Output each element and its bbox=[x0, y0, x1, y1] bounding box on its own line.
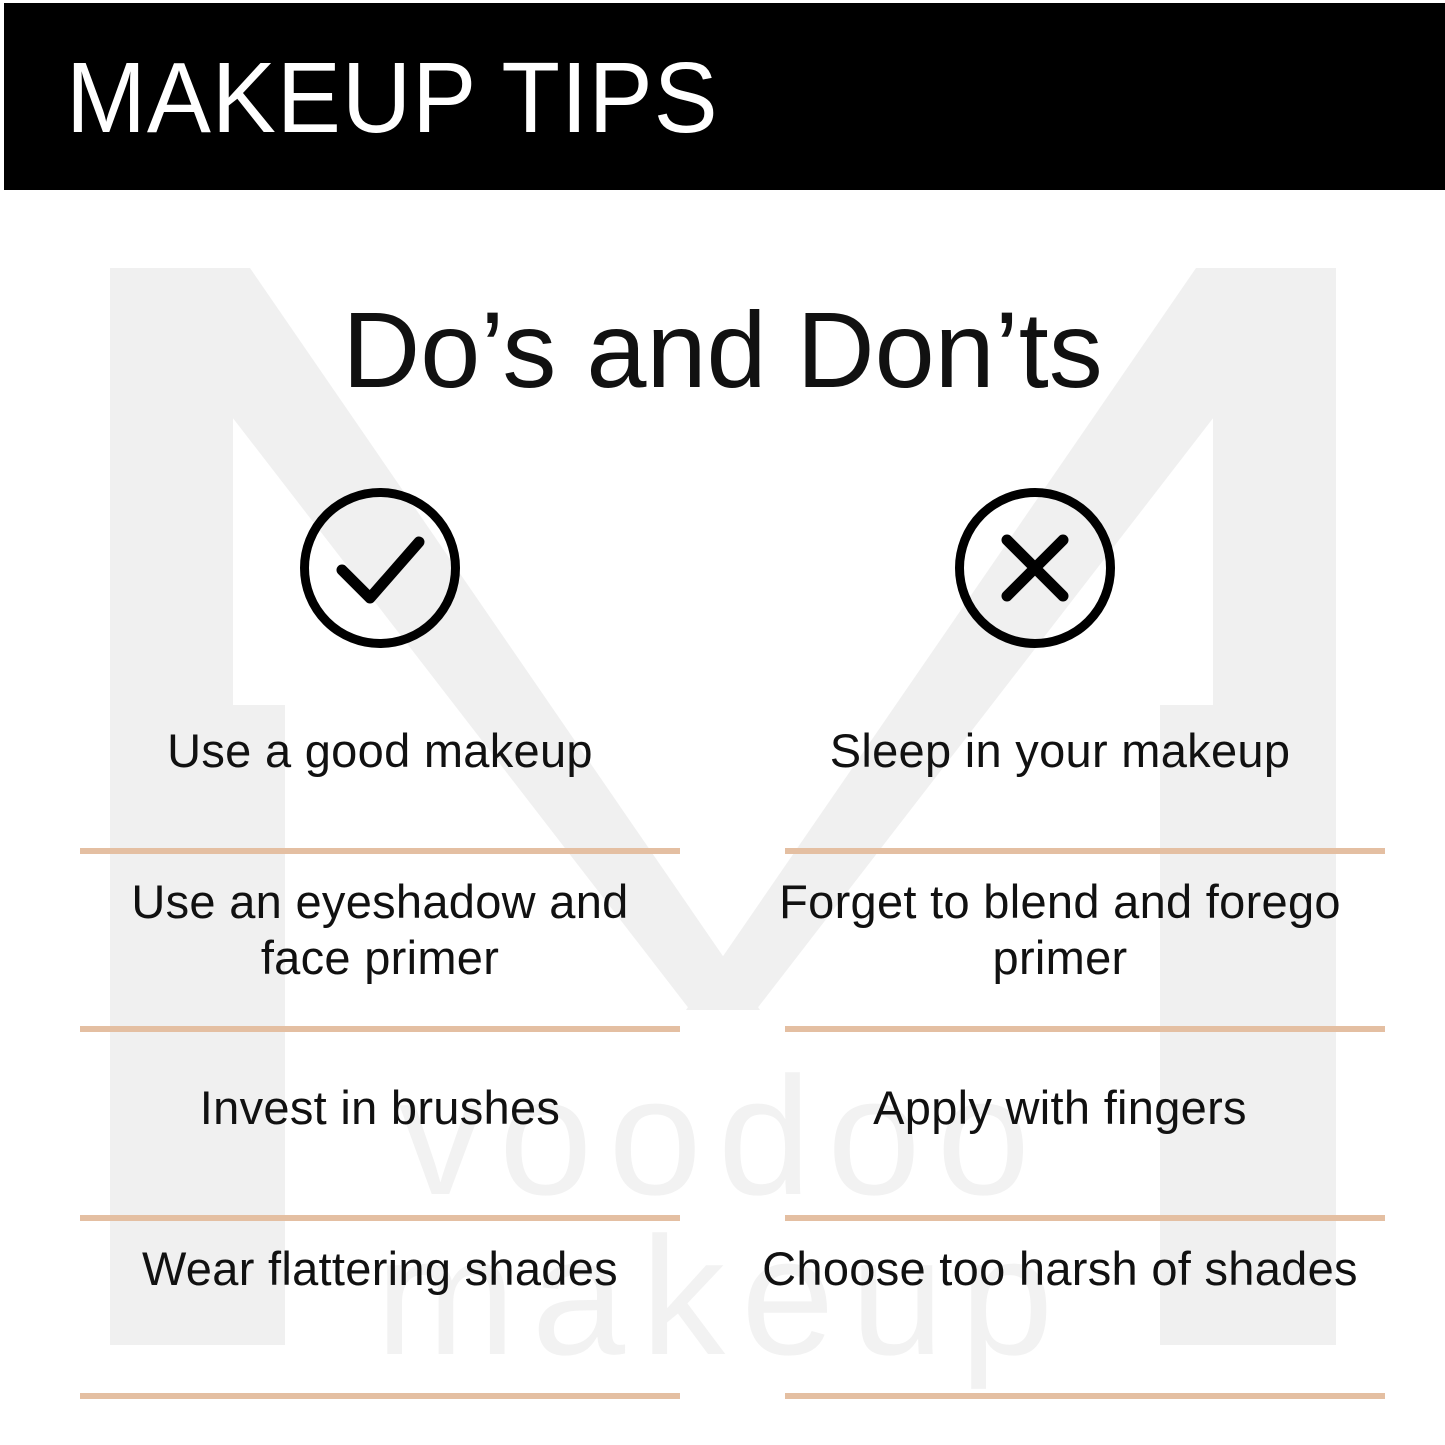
list-item: Forget to blend and forego primer bbox=[735, 854, 1335, 1004]
comparison-columns: Use a good makeup Use an eyeshadow and f… bbox=[0, 190, 1445, 1445]
list-item-label: Choose too harsh of shades bbox=[760, 1221, 1360, 1297]
list-item-label: Forget to blend and forego primer bbox=[760, 854, 1360, 986]
content-area: Do’s and Don’ts Use a good makeup bbox=[0, 190, 1445, 1445]
dos-icon-wrap bbox=[80, 488, 680, 648]
header-title: MAKEUP TIPS bbox=[66, 39, 719, 157]
list-item: Wear flattering shades bbox=[80, 1221, 680, 1371]
list-item-label: Use a good makeup bbox=[80, 690, 680, 779]
list-item-label: Wear flattering shades bbox=[80, 1221, 680, 1297]
list-item: Choose too harsh of shades bbox=[735, 1221, 1335, 1371]
divider-rule bbox=[785, 1393, 1385, 1399]
donts-column: Sleep in your makeup Forget to blend and… bbox=[735, 190, 1335, 1445]
list-item: Sleep in your makeup bbox=[735, 690, 1335, 810]
list-item-label: Use an eyeshadow and face primer bbox=[80, 854, 680, 986]
list-item: Use a good makeup bbox=[80, 690, 680, 810]
donts-icon-wrap bbox=[735, 488, 1335, 648]
list-item-label: Sleep in your makeup bbox=[760, 690, 1360, 779]
list-item: Apply with fingers bbox=[735, 1032, 1335, 1177]
dos-rows: Use a good makeup Use an eyeshadow and f… bbox=[80, 690, 680, 1399]
check-circle-icon bbox=[300, 488, 460, 648]
dos-column: Use a good makeup Use an eyeshadow and f… bbox=[80, 190, 680, 1445]
divider-rule bbox=[80, 1393, 680, 1399]
list-item: Use an eyeshadow and face primer bbox=[80, 854, 680, 1004]
x-circle-icon bbox=[955, 488, 1115, 648]
makeup-tips-poster: voodoo makeup MAKEUP TIPS Do’s and Don’t… bbox=[0, 0, 1445, 1445]
donts-rows: Sleep in your makeup Forget to blend and… bbox=[735, 690, 1335, 1399]
list-item: Invest in brushes bbox=[80, 1032, 680, 1177]
header-bar: MAKEUP TIPS bbox=[4, 3, 1445, 190]
list-item-label: Invest in brushes bbox=[80, 1032, 680, 1136]
list-item-label: Apply with fingers bbox=[760, 1032, 1360, 1136]
